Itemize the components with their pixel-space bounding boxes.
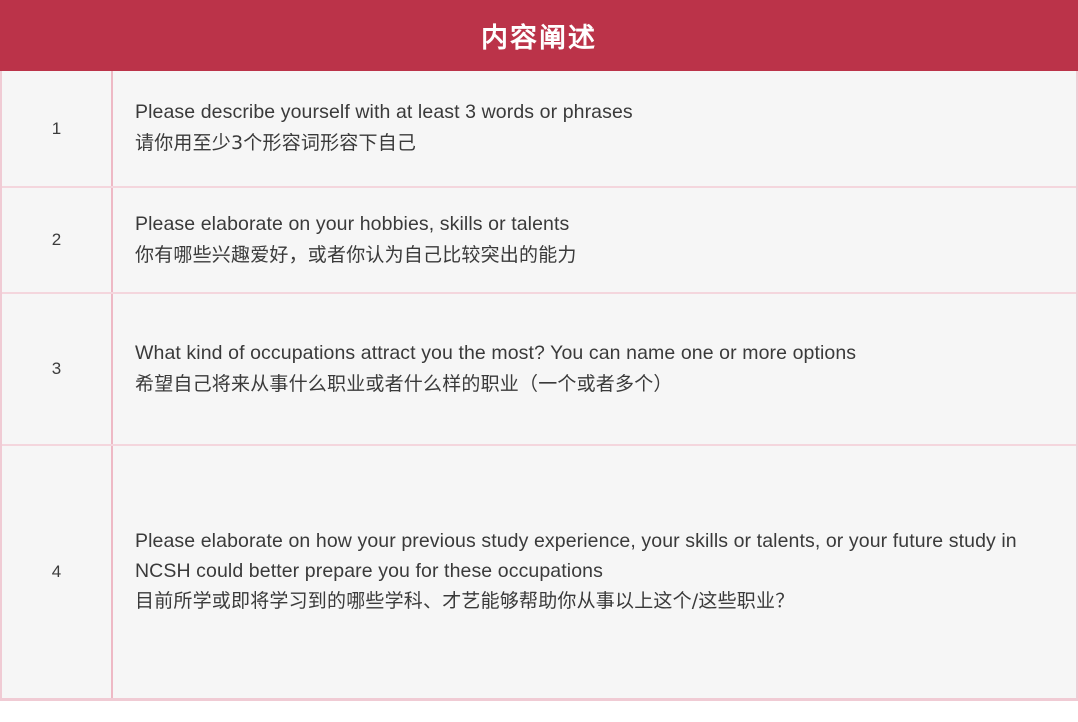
row-number-cell: 2 — [2, 188, 113, 292]
row-number: 1 — [52, 119, 61, 139]
question-chinese: 你有哪些兴趣爱好，或者你认为自己比较突出的能力 — [135, 241, 1052, 270]
content-description-table: 内容阐述 1 Please describe yourself with at … — [0, 0, 1078, 701]
table-row: 2 Please elaborate on your hobbies, skil… — [2, 188, 1076, 294]
table-body: 1 Please describe yourself with at least… — [0, 71, 1078, 701]
page-title: 内容阐述 — [481, 16, 597, 55]
row-number-cell: 1 — [2, 71, 113, 186]
row-content-cell: Please elaborate on how your previous st… — [113, 446, 1076, 698]
row-number-cell: 3 — [2, 294, 113, 444]
table-row: 4 Please elaborate on how your previous … — [2, 446, 1076, 698]
question-english: Please elaborate on how your previous st… — [135, 527, 1052, 586]
row-number: 4 — [52, 562, 61, 582]
row-number: 2 — [52, 230, 61, 250]
question-chinese: 目前所学或即将学习到的哪些学科、才艺能够帮助你从事以上这个/这些职业？ — [135, 587, 1052, 616]
row-content-cell: Please describe yourself with at least 3… — [113, 71, 1076, 186]
question-english: Please elaborate on your hobbies, skills… — [135, 210, 1052, 240]
row-content-cell: Please elaborate on your hobbies, skills… — [113, 188, 1076, 292]
table-row: 3 What kind of occupations attract you t… — [2, 294, 1076, 446]
row-number-cell: 4 — [2, 446, 113, 698]
table-row: 1 Please describe yourself with at least… — [2, 71, 1076, 188]
question-chinese: 请你用至少3个形容词形容下自己 — [135, 129, 1052, 158]
question-english: What kind of occupations attract you the… — [135, 339, 1052, 369]
question-chinese: 希望自己将来从事什么职业或者什么样的职业（一个或者多个） — [135, 370, 1052, 399]
row-number: 3 — [52, 359, 61, 379]
row-content-cell: What kind of occupations attract you the… — [113, 294, 1076, 444]
question-english: Please describe yourself with at least 3… — [135, 98, 1052, 128]
table-header: 内容阐述 — [0, 0, 1078, 71]
